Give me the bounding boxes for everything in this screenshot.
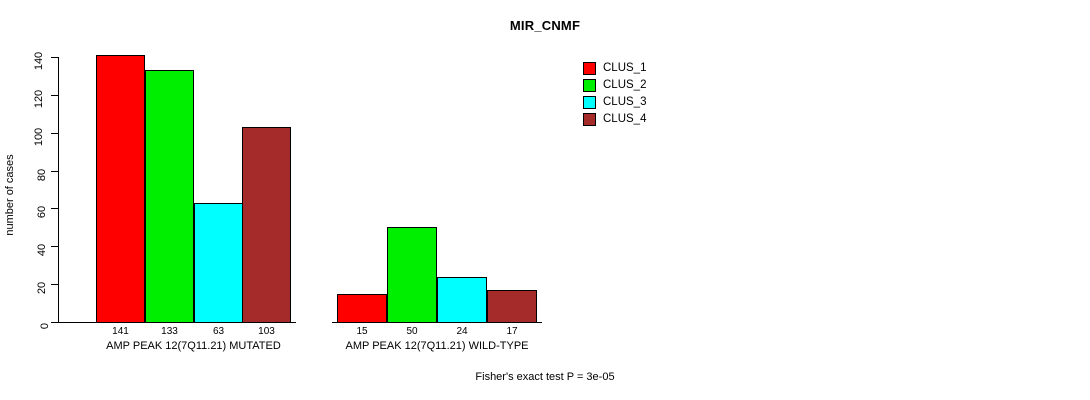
y-axis-tick-label-text: 20: [36, 282, 48, 294]
y-axis-tick: [51, 284, 58, 285]
legend-item-label: CLUS_3: [603, 96, 646, 109]
y-axis-tick-label-text: 80: [36, 168, 48, 180]
statistical-test-text: Fisher's exact test P = 3e-05: [475, 371, 614, 383]
bar[interactable]: [387, 227, 437, 323]
bar-value-label: 141: [96, 326, 145, 337]
legend-item-label: CLUS_1: [603, 62, 646, 75]
y-axis-tick: [51, 95, 58, 96]
bar[interactable]: [242, 127, 291, 323]
statistical-test-annotation: Fisher's exact test P = 3e-05: [0, 371, 1090, 383]
y-axis-tick-label: 20: [0, 278, 48, 290]
y-axis-tick-label-text: 100: [33, 128, 45, 146]
x-axis-group-label: AMP PEAK 12(7Q11.21) WILD-TYPE: [277, 340, 597, 352]
legend-swatch-icon: [583, 62, 596, 75]
y-axis-tick: [51, 208, 58, 209]
bar-value-label: 63: [194, 326, 243, 337]
bar-value-label: 103: [242, 326, 291, 337]
legend-item-label: CLUS_4: [603, 113, 646, 126]
legend-item[interactable]: CLUS_1: [583, 60, 646, 77]
y-axis-tick-label: 100: [0, 127, 48, 139]
bar-value-label: 24: [437, 326, 487, 337]
y-axis-tick-label: 80: [0, 165, 48, 177]
y-axis-tick-label: 120: [0, 89, 48, 101]
bar-value-label: 50: [387, 326, 437, 337]
y-axis-tick-label: 40: [0, 240, 48, 252]
y-axis-tick-label: 0: [0, 316, 48, 328]
y-axis-tick: [51, 171, 58, 172]
y-axis-tick-label: 60: [0, 202, 48, 214]
legend-item[interactable]: CLUS_4: [583, 111, 646, 128]
y-axis-tick-label-text: 120: [33, 90, 45, 108]
legend: CLUS_1CLUS_2CLUS_3CLUS_4: [583, 60, 646, 128]
y-axis-tick-label-text: 60: [36, 206, 48, 218]
y-axis-tick-label-text: 40: [36, 244, 48, 256]
y-axis-tick-label: 140: [0, 51, 48, 63]
bar[interactable]: [96, 55, 145, 323]
y-axis-tick: [51, 133, 58, 134]
bar-value-label: 133: [145, 326, 194, 337]
bar[interactable]: [194, 203, 243, 323]
y-axis-tick: [51, 57, 58, 58]
y-axis-title: number of cases: [2, 140, 18, 250]
legend-swatch-icon: [583, 79, 596, 92]
bar-value-label: 15: [337, 326, 387, 337]
page-title: MIR_CNMF: [0, 18, 1090, 33]
bar[interactable]: [437, 277, 487, 323]
bar[interactable]: [337, 294, 387, 323]
legend-item[interactable]: CLUS_3: [583, 94, 646, 111]
legend-item[interactable]: CLUS_2: [583, 77, 646, 94]
barplot-figure: MIR_CNMF number of cases 020406080100120…: [0, 0, 1090, 400]
y-axis-tick: [51, 246, 58, 247]
legend-swatch-icon: [583, 113, 596, 126]
legend-swatch-icon: [583, 96, 596, 109]
y-axis-tick-label-text: 0: [39, 323, 51, 329]
y-axis-tick: [51, 322, 58, 323]
bar[interactable]: [487, 290, 537, 323]
chart-title-text: MIR_CNMF: [510, 18, 580, 33]
y-axis-tick-label-text: 140: [33, 52, 45, 70]
legend-item-label: CLUS_2: [603, 79, 646, 92]
bar-value-label: 17: [487, 326, 537, 337]
y-axis-line: [58, 57, 59, 323]
bar[interactable]: [145, 70, 194, 323]
